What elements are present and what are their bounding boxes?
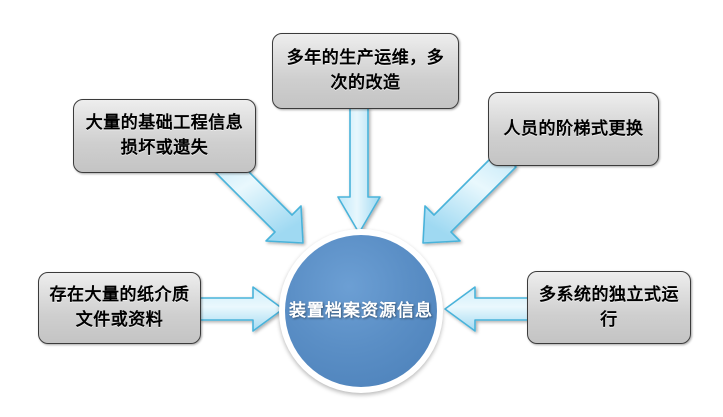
node-label-top-right: 人员的阶梯式更换 (504, 117, 644, 142)
center-circle[interactable]: 装置档案资源信息 (285, 235, 437, 387)
arrow-top (338, 108, 380, 233)
node-box-bottom-right[interactable]: 多系统的独立式运行 (527, 271, 691, 344)
arrow-bottom-right (445, 287, 528, 331)
node-box-top[interactable]: 多年的生产运维，多次的改造 (272, 33, 459, 109)
node-label-top-left: 大量的基础工程信息损坏或遗失 (82, 111, 247, 160)
arrow-bottom-left (200, 287, 283, 331)
center-circle-label: 装置档案资源信息 (289, 297, 433, 326)
diagram-canvas: 多年的生产运维，多次的改造 大量的基础工程信息损坏或遗失 人员的阶梯式更换 存在… (0, 0, 723, 417)
node-box-bottom-left[interactable]: 存在大量的纸介质文件或资料 (38, 272, 201, 344)
node-label-bottom-right: 多系统的独立式运行 (536, 283, 682, 332)
node-box-top-right[interactable]: 人员的阶梯式更换 (488, 92, 659, 166)
node-label-top: 多年的生产运维，多次的改造 (281, 46, 450, 95)
node-box-top-left[interactable]: 大量的基础工程信息损坏或遗失 (73, 99, 256, 173)
node-label-bottom-left: 存在大量的纸介质文件或资料 (47, 283, 192, 332)
